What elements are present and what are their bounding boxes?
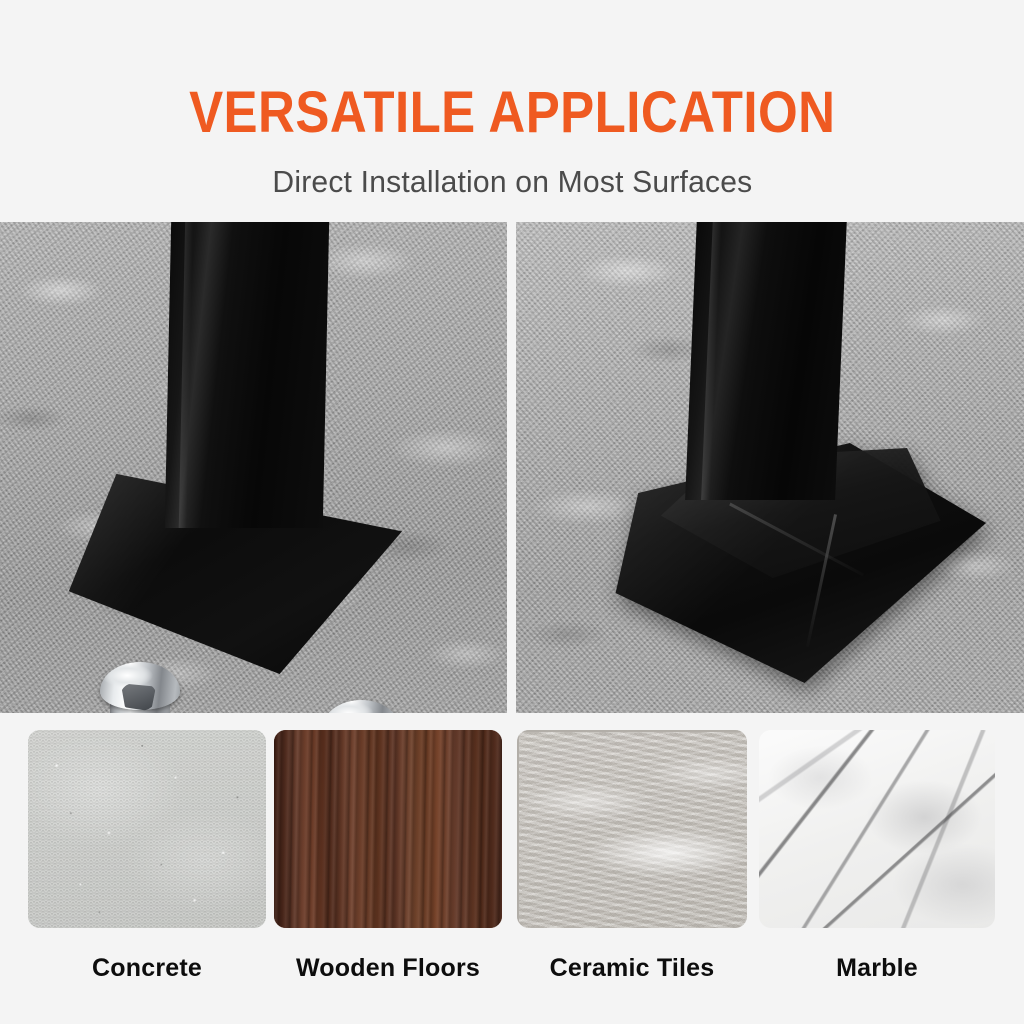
swatch-marble xyxy=(759,730,995,928)
marble-texture xyxy=(759,730,995,928)
surface-label-ceramic-tiles: Ceramic Tiles xyxy=(517,954,747,983)
ceramic-tile-texture xyxy=(517,730,747,928)
photo-gallery xyxy=(0,222,1024,713)
surface-label-marble: Marble xyxy=(759,954,995,983)
surface-label-concrete: Concrete xyxy=(28,954,266,983)
page-subtitle: Direct Installation on Most Surfaces xyxy=(272,164,752,200)
page-title: VERSATILE APPLICATION xyxy=(189,84,835,142)
surface-swatch-row: Concrete Wooden Floors Ceramic Tiles Mar… xyxy=(0,713,1024,1024)
concrete-texture xyxy=(28,730,266,928)
black-post xyxy=(165,222,329,528)
surface-card-wooden-floors: Wooden Floors xyxy=(274,730,502,983)
surface-card-ceramic-tiles: Ceramic Tiles xyxy=(517,730,747,983)
swatch-wooden-floors xyxy=(274,730,502,928)
photo-base-plate-with-bolts xyxy=(0,222,507,713)
product-feature-page: VERSATILE APPLICATION Direct Installatio… xyxy=(0,0,1024,1024)
bolt-notch xyxy=(121,683,156,711)
surface-label-wooden-floors: Wooden Floors xyxy=(274,954,502,983)
photo-base-with-cover xyxy=(516,222,1024,713)
swatch-concrete xyxy=(28,730,266,928)
surface-card-marble: Marble xyxy=(759,730,995,983)
swatch-ceramic-tiles xyxy=(517,730,747,928)
wood-texture xyxy=(274,730,502,928)
header-banner: VERSATILE APPLICATION Direct Installatio… xyxy=(0,0,1024,222)
bolt-head xyxy=(322,700,400,713)
surface-card-concrete: Concrete xyxy=(28,730,266,983)
black-post xyxy=(685,222,847,500)
bolt-cap-3 xyxy=(322,700,400,713)
bolt-cap-1 xyxy=(100,662,180,713)
